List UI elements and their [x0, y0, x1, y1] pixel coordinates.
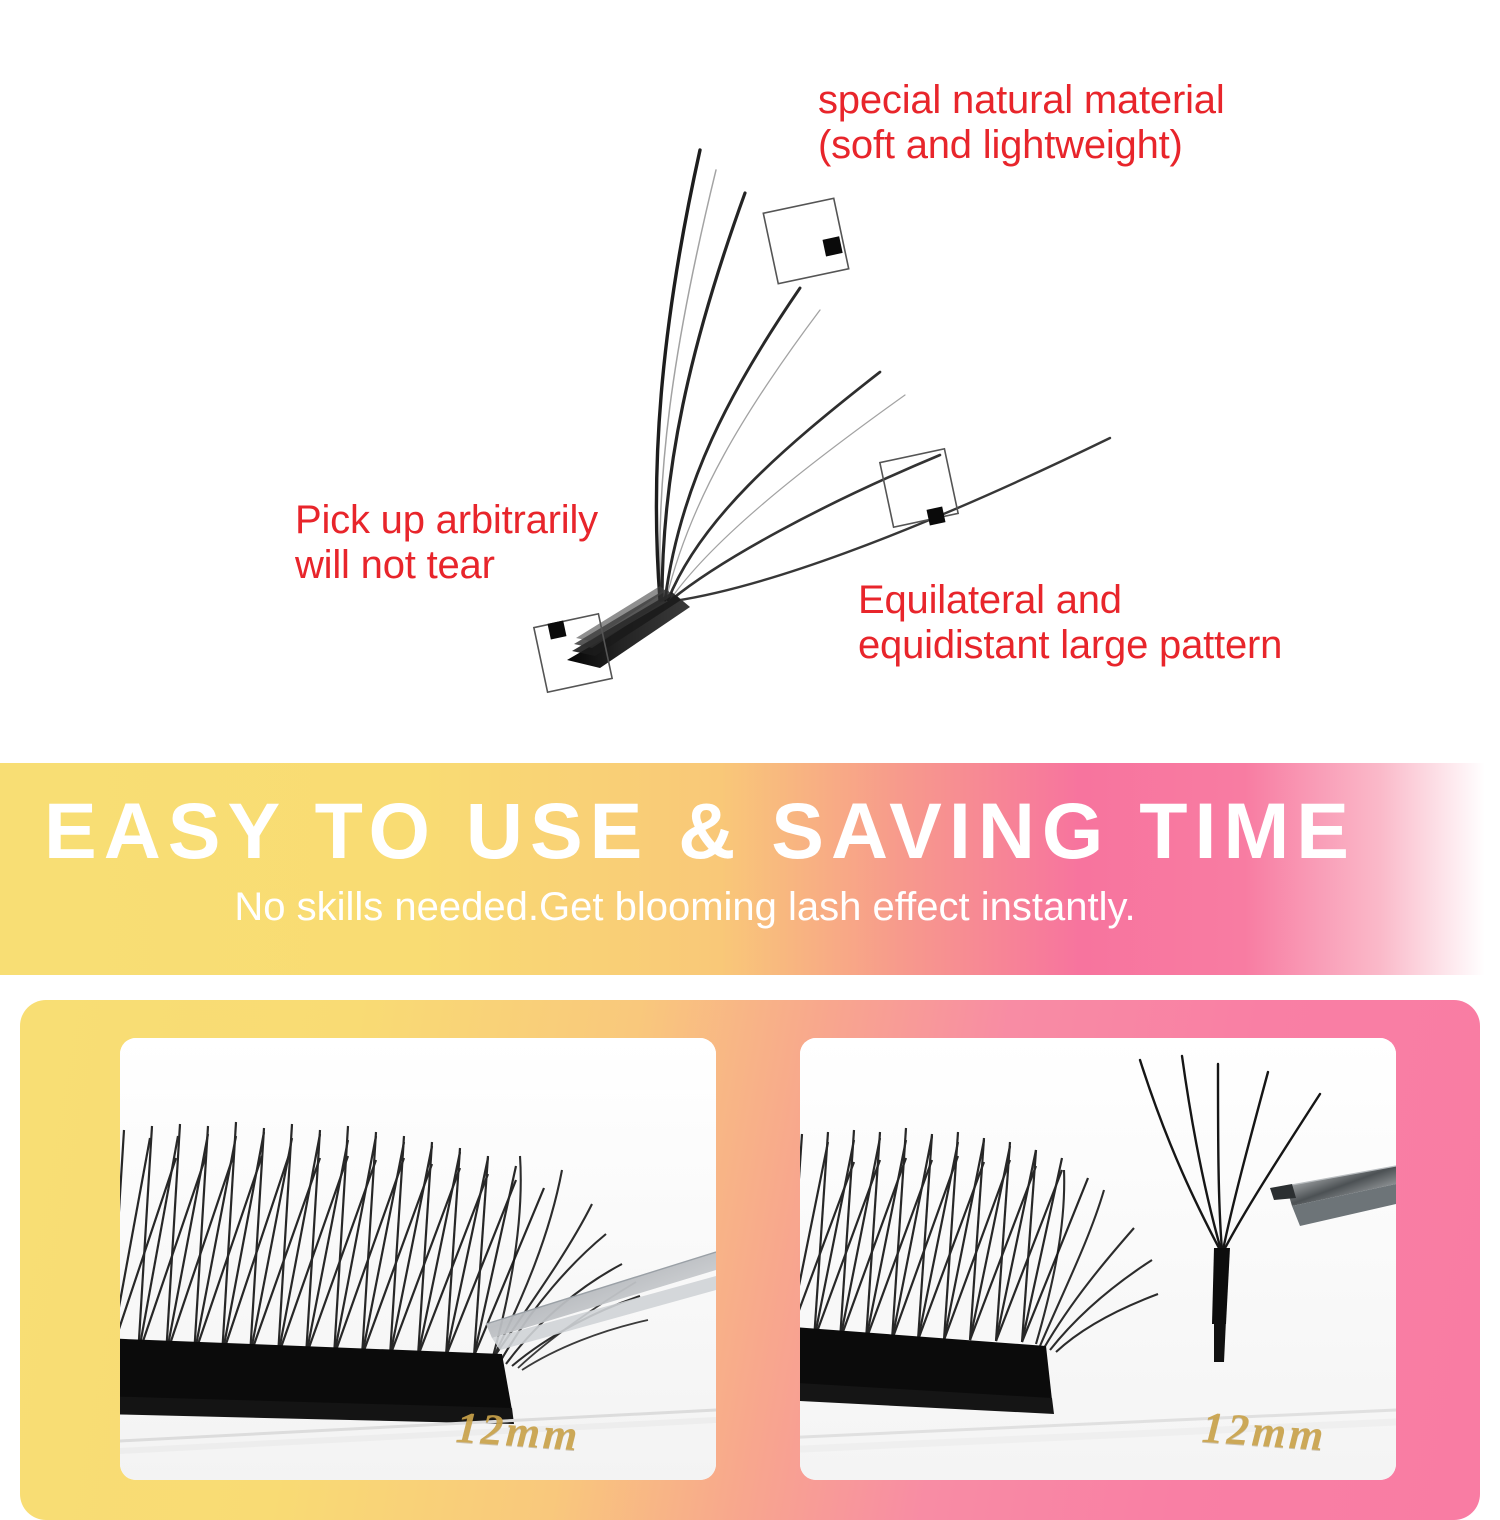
lash-fibers-secondary [660, 170, 905, 600]
marker-top [763, 198, 848, 283]
bottom-photo-card: 12mm [20, 1000, 1480, 1520]
top-diagram-section: special natural material (soft and light… [0, 0, 1500, 763]
banner-easy-to-use: EASY TO USE & SAVING TIME No skills need… [0, 763, 1500, 975]
marker-right [880, 449, 958, 527]
callout-special-natural-material: special natural material (soft and light… [818, 78, 1225, 168]
banner-subtitle: No skills needed.Get blooming lash effec… [0, 885, 1370, 930]
photo-lash-tray-tweezers: 12mm [120, 1038, 716, 1480]
callout-pick-up-arbitrarily: Pick up arbitrarily will not tear [295, 498, 598, 588]
lash-fibers [656, 150, 1110, 601]
lash-base-band [567, 586, 690, 668]
size-label-12mm-right: 12mm [1200, 1402, 1328, 1462]
photo-left-graphic [120, 1038, 716, 1480]
callout-equilateral-equidistant: Equilateral and equidistant large patter… [858, 578, 1282, 668]
photo-lash-fan-pickup: 12mm [800, 1038, 1396, 1480]
size-label-12mm-left: 12mm [454, 1402, 582, 1462]
banner-title: EASY TO USE & SAVING TIME [0, 785, 1400, 877]
